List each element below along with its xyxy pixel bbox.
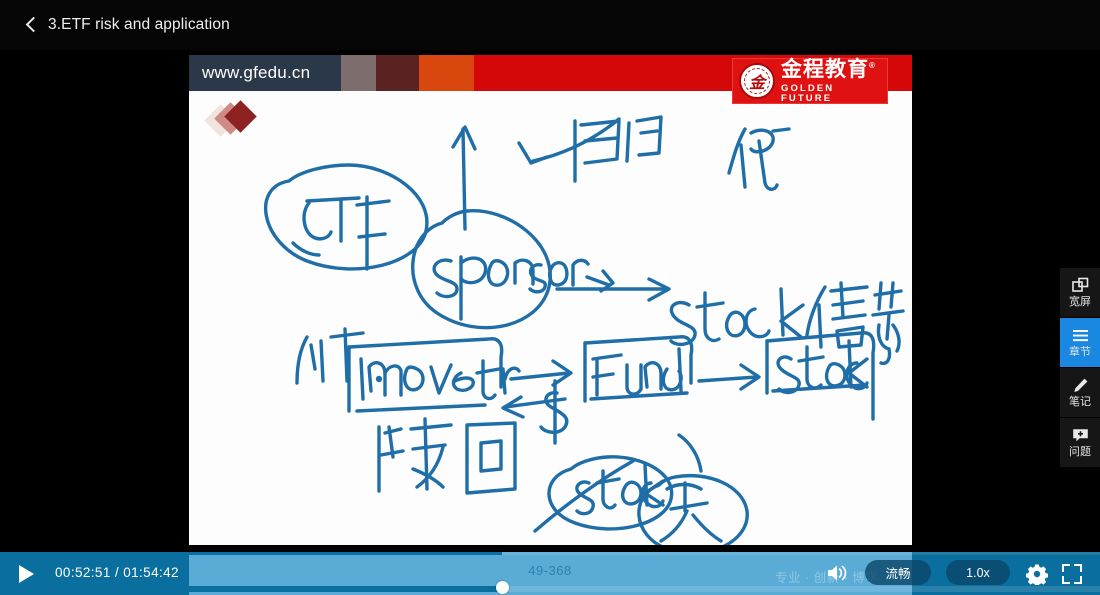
widescreen-icon [1072,277,1089,294]
banner-site-url: www.gfedu.cn [189,63,310,83]
settings-button[interactable] [1026,563,1048,585]
sidebar-item-notes[interactable]: 笔记 [1060,368,1100,418]
progress-top-fill [0,552,502,555]
play-button[interactable] [16,563,37,584]
progress-fill [0,586,502,592]
quality-label: 流畅 [885,563,910,582]
brand-name-cn: 金程教育® [781,59,888,80]
page-title: 3.ETF risk and application [48,16,230,34]
hamburger-icon [1072,327,1089,344]
page-header: 3.ETF risk and application [0,0,1100,50]
speed-label: 1.0x [966,566,990,580]
fullscreen-button[interactable] [1062,564,1082,584]
play-icon [19,565,34,583]
registered-mark: ® [869,61,876,70]
speed-button[interactable]: 1.0x [946,560,1010,585]
progress-bar[interactable] [0,586,1100,592]
banner-site-block: www.gfedu.cn [189,55,341,91]
pencil-icon [1072,377,1089,394]
chevron-left-icon [26,17,42,33]
player-page: 3.ETF risk and application www.gfedu.cn … [0,0,1100,595]
sidebar-label-questions: 问题 [1069,447,1091,458]
progress-handle[interactable] [496,581,509,594]
seal-glyph: 金 [749,69,765,93]
progress-top-track[interactable] [0,552,1100,555]
fullscreen-corner-4 [1074,576,1082,584]
banner-color-block-3 [376,55,419,91]
comment-plus-icon [1072,427,1089,444]
fullscreen-corner-2 [1074,564,1082,572]
back-button[interactable]: 3.ETF risk and application [28,16,230,34]
volume-button[interactable] [826,563,848,583]
sidebar-item-questions[interactable]: 问题 [1060,418,1100,468]
sidebar-item-widescreen[interactable]: 宽屏 [1060,268,1100,318]
player-controls: 49-368 00:52:51 / 01:54:42 专业 · 创新 · 博学 … [0,552,1100,595]
sidebar-label-chapters: 章节 [1069,347,1091,358]
time-display: 00:52:51 / 01:54:42 [55,565,179,580]
banner-color-block-2 [341,55,376,91]
fullscreen-icon [1062,564,1070,572]
fullscreen-corner-3 [1062,576,1070,584]
volume-icon [826,563,848,583]
gear-icon [1026,563,1048,585]
sidebar-label-widescreen: 宽屏 [1069,297,1091,308]
quality-button[interactable]: 流畅 [865,560,931,585]
sidebar-item-chapters[interactable]: 章节 [1060,318,1100,368]
banner-color-block-4 [419,55,474,91]
right-sidebar: 宽屏 章节 笔记 [1060,268,1100,468]
sidebar-label-notes: 笔记 [1069,397,1091,408]
handwriting-canvas [189,91,912,545]
video-stage[interactable]: www.gfedu.cn 金 金程教育® GOLDEN FUTURE [189,55,912,545]
